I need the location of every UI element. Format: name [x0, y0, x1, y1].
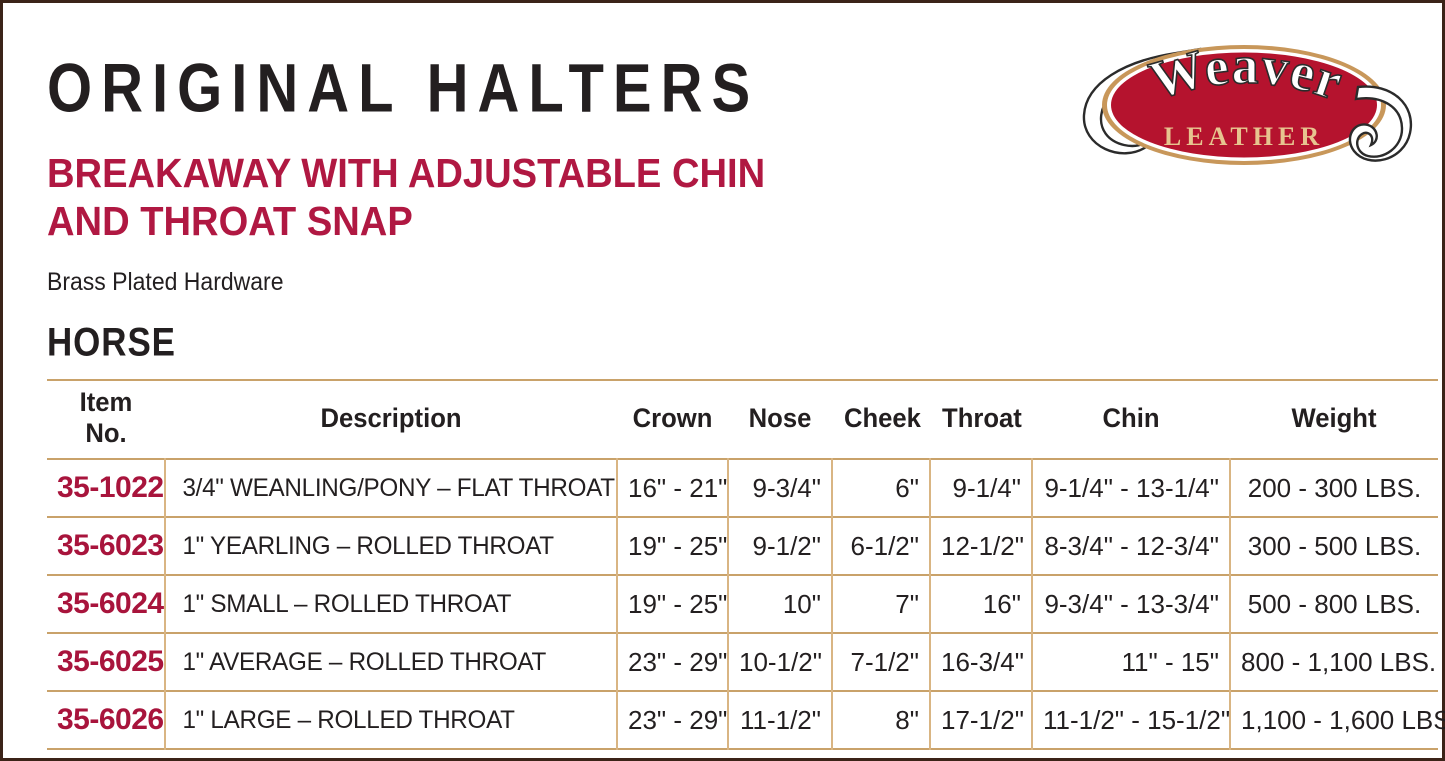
col-header-weight: Weight — [1235, 380, 1433, 459]
col-header-cheek: Cheek — [834, 380, 927, 459]
cell-throat: 12-1/2" — [930, 517, 1032, 575]
weaver-leather-logo: Weaver LEATHER — [1072, 17, 1422, 187]
cell-throat: 17-1/2" — [930, 691, 1032, 749]
cell-crown: 23" - 29" — [617, 691, 728, 749]
col-header-throat: Throat — [933, 380, 1030, 459]
animal-category-heading: HORSE — [47, 321, 967, 366]
table-row: 35-6026 1" LARGE – ROLLED THROAT 23" - 2… — [47, 691, 1438, 749]
cell-item-no: 35-1022 — [47, 459, 165, 517]
cell-chin: 11-1/2" - 15-1/2" — [1032, 691, 1230, 749]
cell-nose: 10" — [728, 575, 832, 633]
cell-throat: 16-3/4" — [930, 633, 1032, 691]
cell-cheek: 8" — [832, 691, 930, 749]
cell-cheek: 7" — [832, 575, 930, 633]
cell-description: 1" AVERAGE – ROLLED THROAT — [172, 633, 610, 691]
cell-description: 1" SMALL – ROLLED THROAT — [172, 575, 610, 633]
cell-item-no: 35-6026 — [47, 691, 165, 749]
cell-nose: 10-1/2" — [728, 633, 832, 691]
cell-item-no: 35-6023 — [47, 517, 165, 575]
page-subtitle: BREAKAWAY WITH ADJUSTABLE CHIN AND THROA… — [47, 149, 977, 246]
cell-nose: 9-1/2" — [728, 517, 832, 575]
cell-crown: 19" - 25" — [617, 517, 728, 575]
col-header-item-no: Item No. — [50, 380, 162, 459]
cell-cheek: 6" — [832, 459, 930, 517]
cell-throat: 16" — [930, 575, 1032, 633]
hardware-note: Brass Plated Hardware — [47, 268, 967, 297]
cell-cheek: 7-1/2" — [832, 633, 930, 691]
table-row: 35-6023 1" YEARLING – ROLLED THROAT 19" … — [47, 517, 1438, 575]
logo-tagline-text: LEATHER — [1164, 122, 1324, 151]
col-header-nose: Nose — [731, 380, 830, 459]
col-header-chin: Chin — [1037, 380, 1225, 459]
page-title: ORIGINAL HALTERS — [47, 55, 1047, 123]
col-header-crown: Crown — [620, 380, 725, 459]
cell-crown: 23" - 29" — [617, 633, 728, 691]
table-body: 35-1022 3/4" WEANLING/PONY – FLAT THROAT… — [47, 459, 1438, 749]
cell-chin: 8-3/4" - 12-3/4" — [1032, 517, 1230, 575]
cell-cheek: 6-1/2" — [832, 517, 930, 575]
table-header: Item No. Description Crown Nose Cheek Th… — [47, 380, 1438, 459]
cell-weight: 200 - 300 LBS. — [1230, 459, 1438, 517]
cell-throat: 9-1/4" — [930, 459, 1032, 517]
cell-chin: 9-3/4" - 13-3/4" — [1032, 575, 1230, 633]
cell-crown: 19" - 25" — [617, 575, 728, 633]
cell-description: 3/4" WEANLING/PONY – FLAT THROAT — [172, 459, 610, 517]
logo-svg: Weaver LEATHER — [1072, 17, 1422, 187]
halter-spec-table: Item No. Description Crown Nose Cheek Th… — [47, 379, 1438, 750]
cell-item-no: 35-6024 — [47, 575, 165, 633]
cell-item-no: 35-6025 — [47, 633, 165, 691]
cell-weight: 500 - 800 LBS. — [1230, 575, 1438, 633]
header-block: ORIGINAL HALTERS BREAKAWAY WITH ADJUSTAB… — [47, 55, 1047, 364]
table-row: 35-1022 3/4" WEANLING/PONY – FLAT THROAT… — [47, 459, 1438, 517]
subtitle-line-2: AND THROAT SNAP — [47, 197, 977, 245]
cell-weight: 300 - 500 LBS. — [1230, 517, 1438, 575]
col-header-description: Description — [176, 380, 605, 459]
cell-description: 1" YEARLING – ROLLED THROAT — [172, 517, 610, 575]
cell-nose: 11-1/2" — [728, 691, 832, 749]
table-row: 35-6025 1" AVERAGE – ROLLED THROAT 23" -… — [47, 633, 1438, 691]
cell-weight: 800 - 1,100 LBS. — [1230, 633, 1438, 691]
cell-crown: 16" - 21" — [617, 459, 728, 517]
cell-nose: 9-3/4" — [728, 459, 832, 517]
cell-chin: 11" - 15" — [1032, 633, 1230, 691]
cell-description: 1" LARGE – ROLLED THROAT — [172, 691, 610, 749]
subtitle-line-1: BREAKAWAY WITH ADJUSTABLE CHIN — [47, 150, 765, 196]
table-header-row: Item No. Description Crown Nose Cheek Th… — [47, 380, 1438, 459]
cell-weight: 1,100 - 1,600 LBS. — [1230, 691, 1438, 749]
cell-chin: 9-1/4" - 13-1/4" — [1032, 459, 1230, 517]
table-row: 35-6024 1" SMALL – ROLLED THROAT 19" - 2… — [47, 575, 1438, 633]
catalog-page: ORIGINAL HALTERS BREAKAWAY WITH ADJUSTAB… — [0, 0, 1445, 761]
